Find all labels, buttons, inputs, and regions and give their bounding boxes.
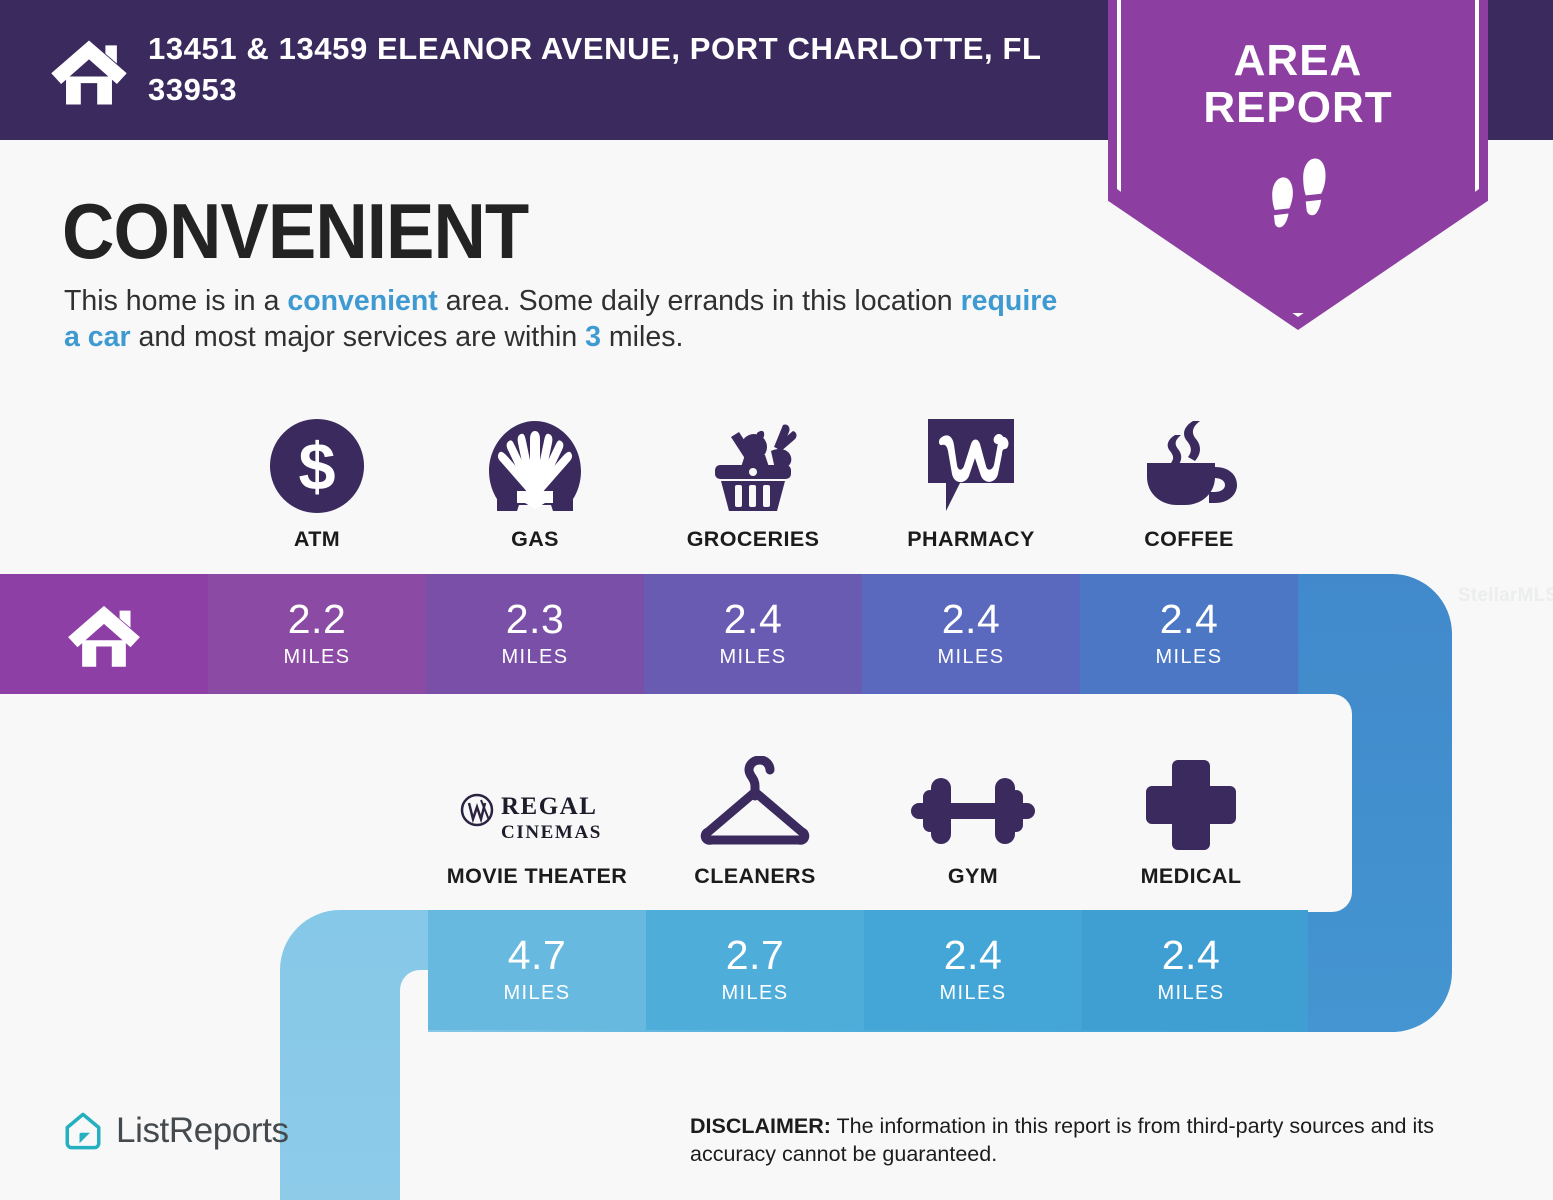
medical-cross-icon <box>1144 752 1238 852</box>
amenity-medical: MEDICAL <box>1082 752 1300 889</box>
distance-value: 2.2 <box>288 599 347 640</box>
disclaimer-label: DISCLAIMER: <box>690 1114 831 1138</box>
amenity-movie-theater: REGAL CINEMAS MOVIE THEATER <box>428 752 646 889</box>
amenity-groceries: GROCERIES <box>644 415 862 552</box>
coffee-cup-icon <box>1137 415 1241 515</box>
distance-unit: MILES <box>719 646 786 669</box>
area-report-badge: AREA REPORT <box>1108 0 1488 330</box>
amenity-label: GROCERIES <box>687 527 820 552</box>
shell-gas-icon <box>485 415 585 515</box>
distance-unit: MILES <box>937 646 1004 669</box>
distance-cell-cleaners: 2.7 MILES <box>646 910 864 1030</box>
atm-dollar-icon: $ <box>268 415 366 515</box>
amenity-atm: $ ATM <box>208 415 426 552</box>
distance-value: 2.3 <box>506 599 565 640</box>
svg-text:REGAL: REGAL <box>501 793 597 820</box>
distance-cell-movie-theater: 4.7 MILES <box>428 910 646 1030</box>
amenity-cleaners: CLEANERS <box>646 752 864 889</box>
amenity-label: GYM <box>948 864 998 889</box>
svg-text:$: $ <box>298 431 335 505</box>
amenity-label: COFFEE <box>1144 527 1234 552</box>
amenity-pharmacy: PHARMACY <box>862 415 1080 552</box>
amenity-label: GAS <box>511 527 559 552</box>
amenity-icon-row-bottom: REGAL CINEMAS MOVIE THEATER CLEANERS <box>428 752 1372 889</box>
distance-unit: MILES <box>1157 982 1224 1005</box>
distance-value: 2.4 <box>1162 935 1221 976</box>
distance-unit: MILES <box>721 982 788 1005</box>
amenity-gas: GAS <box>426 415 644 552</box>
amenity-label: MOVIE THEATER <box>447 864 627 889</box>
distance-value: 2.4 <box>944 935 1003 976</box>
distance-cell-pharmacy: 2.4 MILES <box>862 574 1080 694</box>
distance-unit: MILES <box>503 982 570 1005</box>
home-tile <box>0 574 208 694</box>
distance-cell-gym: 2.4 MILES <box>864 910 1082 1030</box>
listreports-wordmark: ListReports <box>116 1111 289 1151</box>
home-icon <box>65 595 143 673</box>
dumbbell-icon <box>911 752 1035 852</box>
distance-cell-medical: 2.4 MILES <box>1082 910 1300 1030</box>
clothes-hanger-icon <box>696 752 814 852</box>
disclaimer: DISCLAIMER: The information in this repo… <box>690 1112 1510 1169</box>
distance-value: 2.4 <box>724 599 783 640</box>
listreports-logo: ListReports <box>62 1110 289 1152</box>
stellarmls-watermark: StellarMLS <box>1458 585 1553 607</box>
badge-title-line1: AREA <box>1108 38 1488 85</box>
distance-cell-atm: 2.2 MILES <box>208 574 426 694</box>
amenity-label: MEDICAL <box>1141 864 1242 889</box>
badge-title: AREA REPORT <box>1108 38 1488 131</box>
distance-unit: MILES <box>501 646 568 669</box>
amenity-label: CLEANERS <box>694 864 815 889</box>
distance-row-top: 2.2 MILES 2.3 MILES 2.4 MILES 2.4 MILES … <box>208 574 1372 694</box>
regal-cinemas-icon: REGAL CINEMAS <box>457 752 617 852</box>
distance-row-bottom: 4.7 MILES 2.7 MILES 2.4 MILES 2.4 MILES <box>428 910 1372 1030</box>
amenity-label: ATM <box>294 527 340 552</box>
distance-value: 2.4 <box>942 599 1001 640</box>
distance-cell-coffee: 2.4 MILES <box>1080 574 1298 694</box>
amenity-label: PHARMACY <box>907 527 1034 552</box>
distance-unit: MILES <box>1155 646 1222 669</box>
distance-value: 2.4 <box>1160 599 1219 640</box>
footprints-icon <box>1255 155 1341 241</box>
svg-text:CINEMAS: CINEMAS <box>501 822 602 843</box>
distance-unit: MILES <box>283 646 350 669</box>
amenity-coffee: COFFEE <box>1080 415 1298 552</box>
badge-title-line2: REPORT <box>1108 85 1488 132</box>
distance-cell-groceries: 2.4 MILES <box>644 574 862 694</box>
amenity-gym: GYM <box>864 752 1082 889</box>
grocery-basket-icon <box>701 415 805 515</box>
distance-value: 2.7 <box>726 935 785 976</box>
amenity-icon-row-top: $ ATM GAS <box>208 415 1372 552</box>
distance-value: 4.7 <box>508 935 567 976</box>
listreports-house-icon <box>62 1110 104 1152</box>
distance-unit: MILES <box>939 982 1006 1005</box>
distance-cell-gas: 2.3 MILES <box>426 574 644 694</box>
walgreens-w-icon <box>924 415 1018 515</box>
